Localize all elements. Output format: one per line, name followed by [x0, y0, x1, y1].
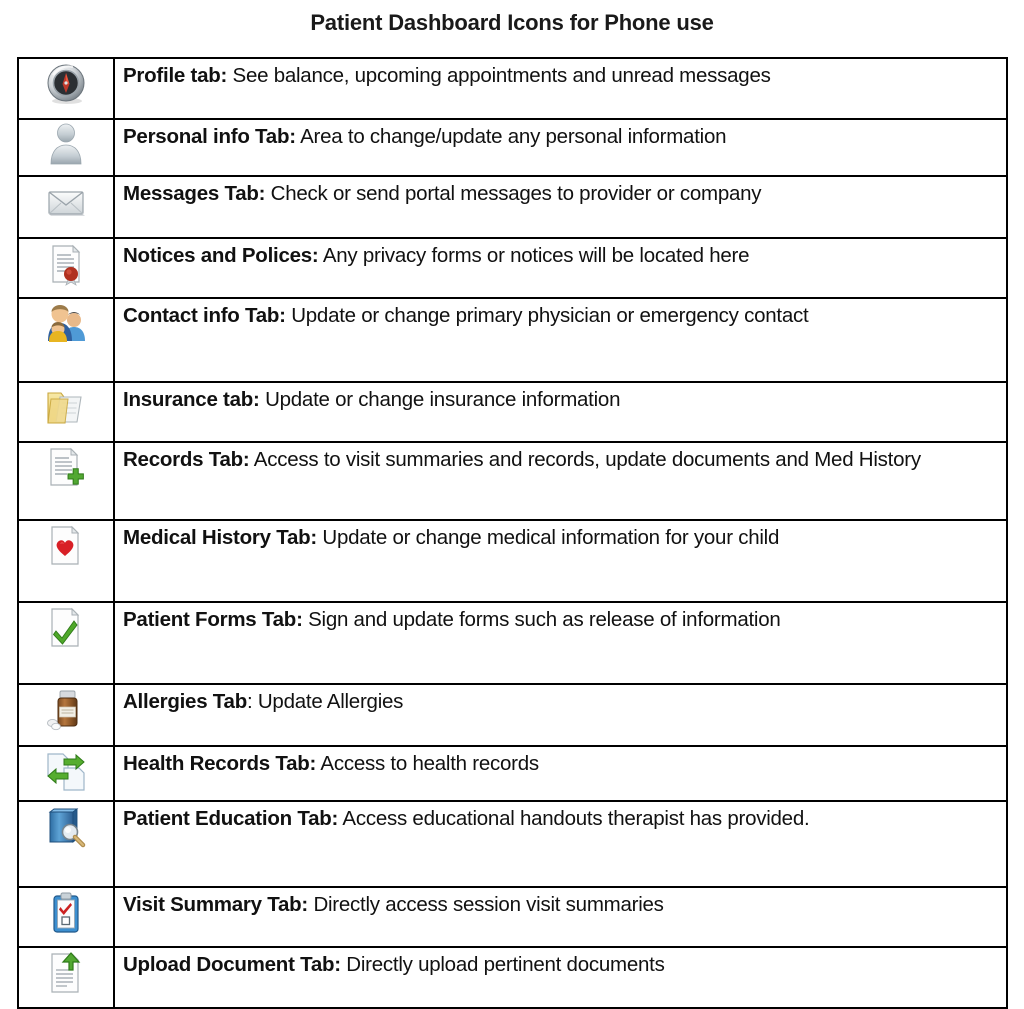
- row-label: Profile tab:: [123, 64, 227, 87]
- compass-icon: [43, 61, 89, 107]
- description-cell: Notices and Polices: Any privacy forms o…: [114, 238, 1007, 298]
- row-label: Medical History Tab:: [123, 526, 317, 549]
- table-row: Patient Forms Tab: Sign and update forms…: [18, 602, 1007, 684]
- description-cell: Personal info Tab: Area to change/update…: [114, 119, 1007, 176]
- row-label: Upload Document Tab:: [123, 953, 341, 976]
- page-title: Patient Dashboard Icons for Phone use: [0, 0, 1024, 36]
- row-description: Any privacy forms or notices will be loc…: [319, 244, 750, 267]
- people-group-icon: [43, 301, 89, 347]
- document-plus-icon: [43, 445, 89, 491]
- icon-cell: [18, 602, 114, 684]
- description-cell: Patient Education Tab: Access educationa…: [114, 801, 1007, 887]
- table-row: Health Records Tab: Access to health rec…: [18, 746, 1007, 801]
- table-row: Visit Summary Tab: Directly access sessi…: [18, 887, 1007, 947]
- icon-cell: [18, 119, 114, 176]
- pill-bottle-icon: [43, 687, 89, 733]
- row-description: See balance, upcoming appointments and u…: [227, 64, 771, 87]
- description-cell: Records Tab: Access to visit summaries a…: [114, 442, 1007, 520]
- description-cell: Health Records Tab: Access to health rec…: [114, 746, 1007, 801]
- icon-cell: [18, 442, 114, 520]
- icon-cell: [18, 801, 114, 887]
- icon-cell: [18, 947, 114, 1008]
- clipboard-check-icon: [43, 890, 89, 936]
- row-label: Allergies Tab: [123, 690, 247, 713]
- row-description: Update or change primary physician or em…: [286, 304, 809, 327]
- description-cell: Medical History Tab: Update or change me…: [114, 520, 1007, 602]
- row-label: Patient Forms Tab:: [123, 608, 303, 631]
- row-description: : Update Allergies: [247, 690, 403, 713]
- description-cell: Profile tab: See balance, upcoming appoi…: [114, 58, 1007, 119]
- icon-cell: [18, 520, 114, 602]
- document-upload-icon: [43, 950, 89, 996]
- icon-cell: [18, 298, 114, 382]
- row-description: Directly access session visit summaries: [308, 893, 664, 916]
- document-seal-icon: [43, 241, 89, 287]
- person-silhouette-icon: [43, 122, 89, 168]
- icon-cell: [18, 684, 114, 746]
- table-row: Profile tab: See balance, upcoming appoi…: [18, 58, 1007, 119]
- icon-cell: [18, 238, 114, 298]
- table-row: Records Tab: Access to visit summaries a…: [18, 442, 1007, 520]
- description-cell: Messages Tab: Check or send portal messa…: [114, 176, 1007, 238]
- table-row: Allergies Tab: Update Allergies: [18, 684, 1007, 746]
- row-description: Directly upload pertinent documents: [341, 953, 665, 976]
- row-label: Personal info Tab:: [123, 125, 296, 148]
- row-description: Sign and update forms such as release of…: [303, 608, 781, 631]
- icon-cell: [18, 746, 114, 801]
- table-row: Upload Document Tab: Directly upload per…: [18, 947, 1007, 1008]
- table-row: Notices and Polices: Any privacy forms o…: [18, 238, 1007, 298]
- table-row: Contact info Tab: Update or change prima…: [18, 298, 1007, 382]
- description-cell: Upload Document Tab: Directly upload per…: [114, 947, 1007, 1008]
- description-cell: Visit Summary Tab: Directly access sessi…: [114, 887, 1007, 947]
- envelope-icon: [43, 179, 89, 225]
- table-row: Messages Tab: Check or send portal messa…: [18, 176, 1007, 238]
- icon-cell: [18, 176, 114, 238]
- document-heart-icon: [43, 523, 89, 569]
- row-label: Visit Summary Tab:: [123, 893, 308, 916]
- row-label: Patient Education Tab:: [123, 807, 338, 830]
- table-row: Personal info Tab: Area to change/update…: [18, 119, 1007, 176]
- row-description: Update or change insurance information: [260, 388, 621, 411]
- row-description: Access to visit summaries and records, u…: [249, 448, 920, 471]
- icon-cell: [18, 887, 114, 947]
- row-description: Access to health records: [316, 752, 539, 775]
- book-search-icon: [43, 804, 89, 850]
- icon-legend-table: Profile tab: See balance, upcoming appoi…: [17, 57, 1008, 1009]
- description-cell: Patient Forms Tab: Sign and update forms…: [114, 602, 1007, 684]
- row-label: Messages Tab:: [123, 182, 265, 205]
- row-description: Area to change/update any personal infor…: [296, 125, 726, 148]
- document-page: Patient Dashboard Icons for Phone use: [0, 0, 1024, 909]
- row-label: Records Tab:: [123, 448, 249, 471]
- row-label: Notices and Polices:: [123, 244, 319, 267]
- document-sync-icon: [43, 749, 89, 795]
- row-description: Access educational handouts therapist ha…: [338, 807, 809, 830]
- row-label: Health Records Tab:: [123, 752, 316, 775]
- row-label: Insurance tab:: [123, 388, 260, 411]
- table-row: Medical History Tab: Update or change me…: [18, 520, 1007, 602]
- description-cell: Insurance tab: Update or change insuranc…: [114, 382, 1007, 442]
- table-row: Insurance tab: Update or change insuranc…: [18, 382, 1007, 442]
- document-check-icon: [43, 605, 89, 651]
- icon-cell: [18, 382, 114, 442]
- row-label: Contact info Tab:: [123, 304, 286, 327]
- description-cell: Allergies Tab: Update Allergies: [114, 684, 1007, 746]
- row-description: Update or change medical information for…: [317, 526, 779, 549]
- description-cell: Contact info Tab: Update or change prima…: [114, 298, 1007, 382]
- row-description: Check or send portal messages to provide…: [265, 182, 761, 205]
- icon-cell: [18, 58, 114, 119]
- table-row: Patient Education Tab: Access educationa…: [18, 801, 1007, 887]
- folder-icon: [43, 385, 89, 431]
